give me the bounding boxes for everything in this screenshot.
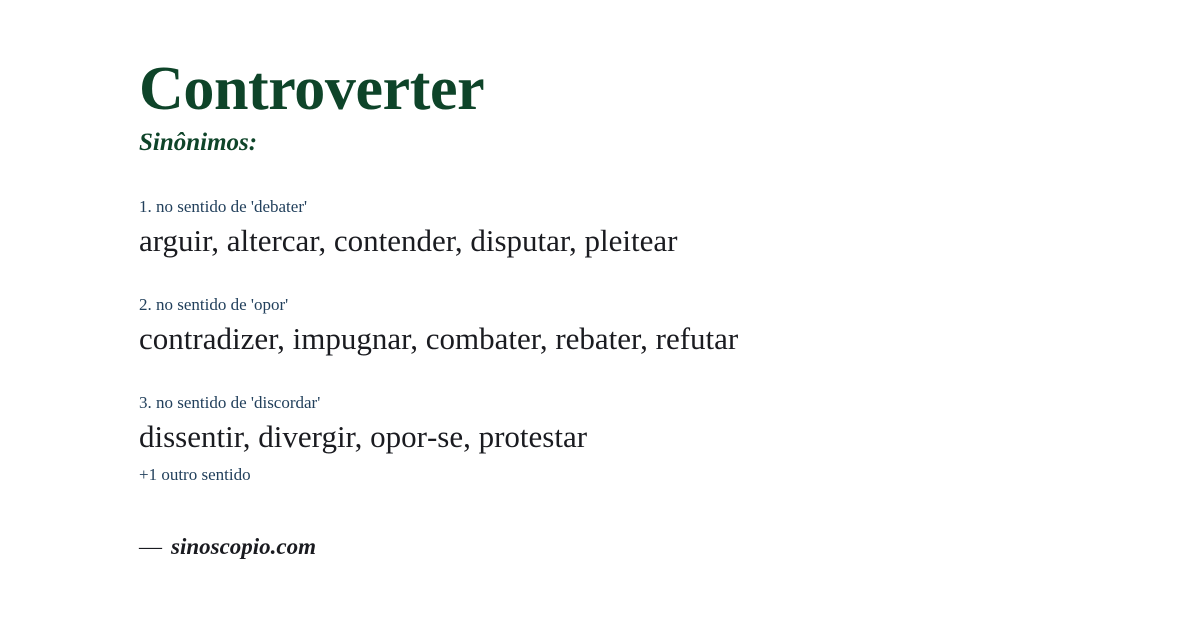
sense-block: 3. no sentido de 'discordar' dissentir, … [139,392,1164,457]
sense-label: 2. no sentido de 'opor' [139,294,1164,315]
card-footer: — sinoscopio.com [139,533,316,561]
card-header: Controverter Sinônimos: [139,58,1160,157]
source-attribution: sinoscopio.com [171,533,316,561]
sense-synonyms: dissentir, divergir, opor‑se, protestar [139,417,1164,457]
sense-block: 1. no sentido de 'debater' arguir, alter… [139,196,1164,261]
page-title: Controverter [139,58,1160,120]
sense-synonyms: arguir, altercar, contender, disputar, p… [139,221,1164,261]
synonym-card: Controverter Sinônimos: 1. no sentido de… [0,0,1200,628]
sense-list: 1. no sentido de 'debater' arguir, alter… [139,196,1164,457]
more-senses-note: +1 outro sentido [139,464,251,485]
sense-synonyms: contradizer, impugnar, combater, rebater… [139,319,1164,359]
em-dash: — [139,533,162,561]
sense-label: 3. no sentido de 'discordar' [139,392,1164,413]
sense-block: 2. no sentido de 'opor' contradizer, imp… [139,294,1164,359]
sense-label: 1. no sentido de 'debater' [139,196,1164,217]
section-label-synonyms: Sinônimos: [139,129,1160,157]
